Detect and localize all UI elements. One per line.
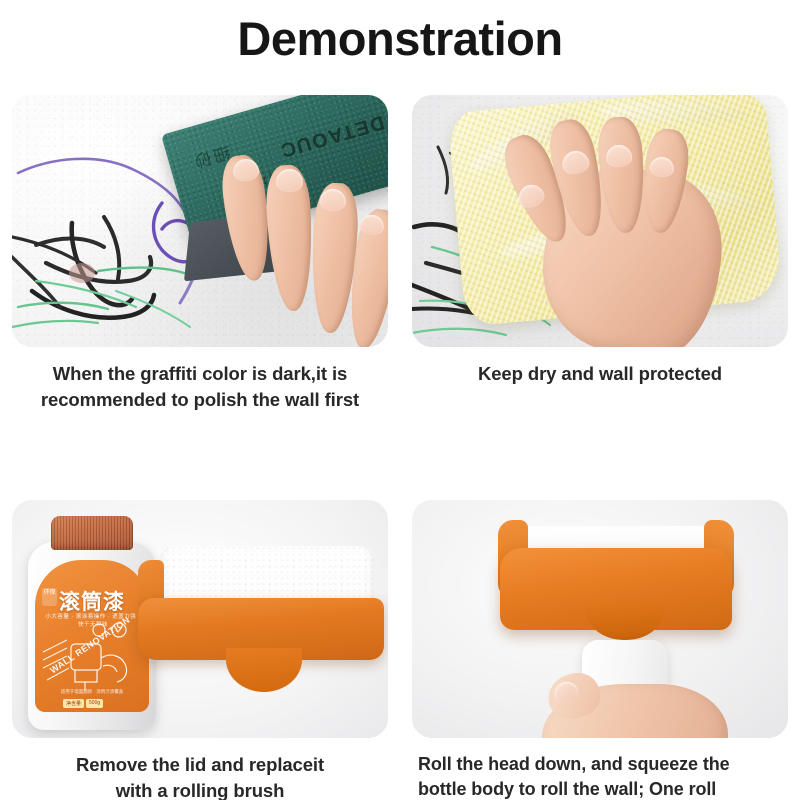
steps-grid: DETAOUC 细砂 打磨块 <box>0 95 800 800</box>
step-2-caption: Keep dry and wall protected <box>412 361 788 387</box>
step-4-caption-line-2: bottle body to roll the wall; One roll <box>418 777 788 800</box>
step-1-photo: DETAOUC 细砂 打磨块 <box>12 95 388 347</box>
step-1-caption-line-2: recommended to polish the wall first <box>12 387 388 413</box>
hand-holding-sanding-block <box>220 137 388 347</box>
step-3: 环保 滚筒漆 小大容量 · 滚涂易操作 · 遮盖力强 · 快干无异味 <box>0 500 400 800</box>
label-weight-value: 500g <box>86 699 103 708</box>
page-title: Demonstration <box>0 14 800 63</box>
demonstration-page: Demonstration <box>0 0 800 800</box>
label-footer-text: 适用于墙面翻新 · 涂鸦污渍覆盖 <box>43 689 141 696</box>
step-2-photo <box>412 95 788 347</box>
step-1-caption-line-1: When the graffiti color is dark,it is <box>12 361 388 387</box>
step-4: Roll the head down, and squeeze the bott… <box>400 500 800 800</box>
paint-bottle: 环保 滚筒漆 小大容量 · 滚涂易操作 · 遮盖力强 · 快干无异味 <box>28 516 156 730</box>
roller-mount-hub <box>586 600 664 640</box>
hand-wiping-wall <box>490 117 740 347</box>
step-4-caption: Roll the head down, and squeeze the bott… <box>412 752 788 800</box>
label-weight-label: 净含量 <box>63 699 84 708</box>
hand-holding-roller <box>542 668 738 738</box>
step-2-caption-line-1: Keep dry and wall protected <box>412 361 788 387</box>
step-4-caption-line-1: Roll the head down, and squeeze the <box>418 752 788 778</box>
roller-mount-hub <box>226 648 302 692</box>
steps-row-top: DETAOUC 细砂 打磨块 <box>0 95 800 414</box>
bottle-label: 环保 滚筒漆 小大容量 · 滚涂易操作 · 遮盖力强 · 快干无异味 <box>35 560 149 712</box>
bottle-cap <box>51 516 133 550</box>
step-3-caption-line-2: with a rolling brush <box>12 778 388 800</box>
roller-brush-head <box>138 546 384 722</box>
label-eco-badge: 环保 <box>42 588 57 606</box>
steps-row-bottom: 环保 滚筒漆 小大容量 · 滚涂易操作 · 遮盖力强 · 快干无异味 <box>0 500 800 800</box>
step-3-photo: 环保 滚筒漆 小大容量 · 滚涂易操作 · 遮盖力强 · 快干无异味 <box>12 500 388 738</box>
middle-fingernail <box>276 169 303 192</box>
step-3-caption: Remove the lid and replaceit with a roll… <box>12 752 388 800</box>
step-4-photo <box>412 500 788 738</box>
label-weight-badge: 净含量 500g <box>63 699 103 708</box>
step-2: Keep dry and wall protected <box>400 95 800 414</box>
step-1: DETAOUC 细砂 打磨块 <box>0 95 400 414</box>
step-1-caption: When the graffiti color is dark,it is re… <box>12 361 388 414</box>
label-illustration: WALL RENOVATION <box>41 622 143 692</box>
step-3-caption-line-1: Remove the lid and replaceit <box>12 752 388 778</box>
